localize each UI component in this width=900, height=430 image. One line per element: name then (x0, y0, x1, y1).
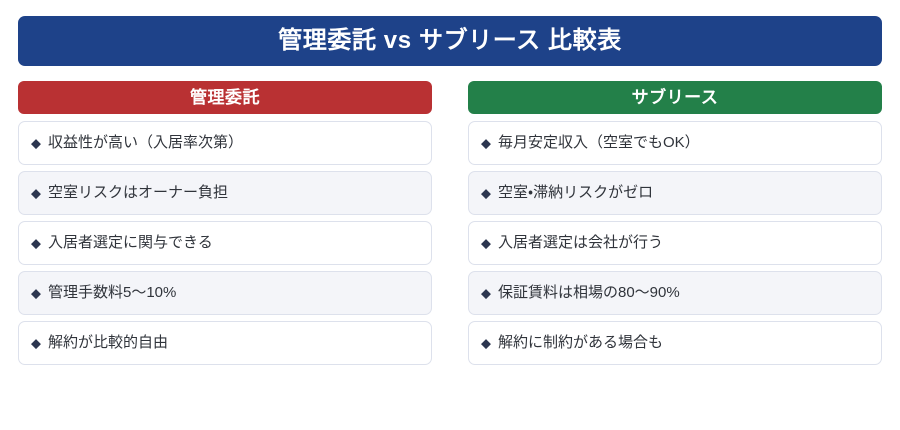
list-item-label: 空室・滞納リスクがゼロ (498, 184, 653, 202)
diamond-bullet-icon: ◆ (481, 136, 491, 149)
feature-list-sublease: ◆ 毎月安定収入（空室でもOK） ◆ 空室・滞納リスクがゼロ ◆ 入居者選定は会… (468, 121, 882, 365)
list-item-label: 入居者選定は会社が行う (498, 234, 663, 252)
list-item-label: 空室リスクはオーナー負担 (48, 184, 228, 202)
comparison-columns: 管理委託 ◆ 収益性が高い（入居率次第） ◆ 空室リスクはオーナー負担 ◆ 入居… (18, 81, 882, 365)
comparison-table-page: 管理委託 vs サブリース 比較表 管理委託 ◆ 収益性が高い（入居率次第） ◆… (0, 0, 900, 430)
column-kanri-itaku: 管理委託 ◆ 収益性が高い（入居率次第） ◆ 空室リスクはオーナー負担 ◆ 入居… (18, 81, 432, 365)
list-item: ◆ 入居者選定は会社が行う (468, 221, 882, 265)
list-item: ◆ 解約が比較的自由 (18, 321, 432, 365)
list-item: ◆ 解約に制約がある場合も (468, 321, 882, 365)
column-header-label: サブリース (632, 89, 719, 106)
list-item-label: 保証賃料は相場の80〜90% (498, 284, 680, 302)
page-title: 管理委託 vs サブリース 比較表 (278, 29, 622, 53)
diamond-bullet-icon: ◆ (481, 286, 491, 299)
diamond-bullet-icon: ◆ (31, 186, 41, 199)
list-item-label: 解約が比較的自由 (48, 334, 168, 352)
diamond-bullet-icon: ◆ (31, 236, 41, 249)
column-header-kanri-itaku: 管理委託 (18, 81, 432, 114)
list-item: ◆ 毎月安定収入（空室でもOK） (468, 121, 882, 165)
column-header-sublease: サブリース (468, 81, 882, 114)
list-item-label: 入居者選定に関与できる (48, 234, 213, 252)
list-item: ◆ 収益性が高い（入居率次第） (18, 121, 432, 165)
diamond-bullet-icon: ◆ (481, 236, 491, 249)
diamond-bullet-icon: ◆ (31, 336, 41, 349)
list-item: ◆ 空室リスクはオーナー負担 (18, 171, 432, 215)
feature-list-kanri-itaku: ◆ 収益性が高い（入居率次第） ◆ 空室リスクはオーナー負担 ◆ 入居者選定に関… (18, 121, 432, 365)
list-item-label: 収益性が高い（入居率次第） (48, 134, 243, 152)
diamond-bullet-icon: ◆ (481, 186, 491, 199)
title-banner: 管理委託 vs サブリース 比較表 (18, 16, 882, 66)
list-item: ◆ 管理手数料5〜10% (18, 271, 432, 315)
diamond-bullet-icon: ◆ (481, 336, 491, 349)
list-item-label: 管理手数料5〜10% (48, 284, 176, 302)
list-item-label: 解約に制約がある場合も (498, 334, 663, 352)
list-item: ◆ 空室・滞納リスクがゼロ (468, 171, 882, 215)
column-header-label: 管理委託 (190, 89, 260, 106)
diamond-bullet-icon: ◆ (31, 286, 41, 299)
diamond-bullet-icon: ◆ (31, 136, 41, 149)
list-item: ◆ 保証賃料は相場の80〜90% (468, 271, 882, 315)
column-sublease: サブリース ◆ 毎月安定収入（空室でもOK） ◆ 空室・滞納リスクがゼロ ◆ 入… (468, 81, 882, 365)
list-item: ◆ 入居者選定に関与できる (18, 221, 432, 265)
list-item-label: 毎月安定収入（空室でもOK） (498, 134, 700, 152)
